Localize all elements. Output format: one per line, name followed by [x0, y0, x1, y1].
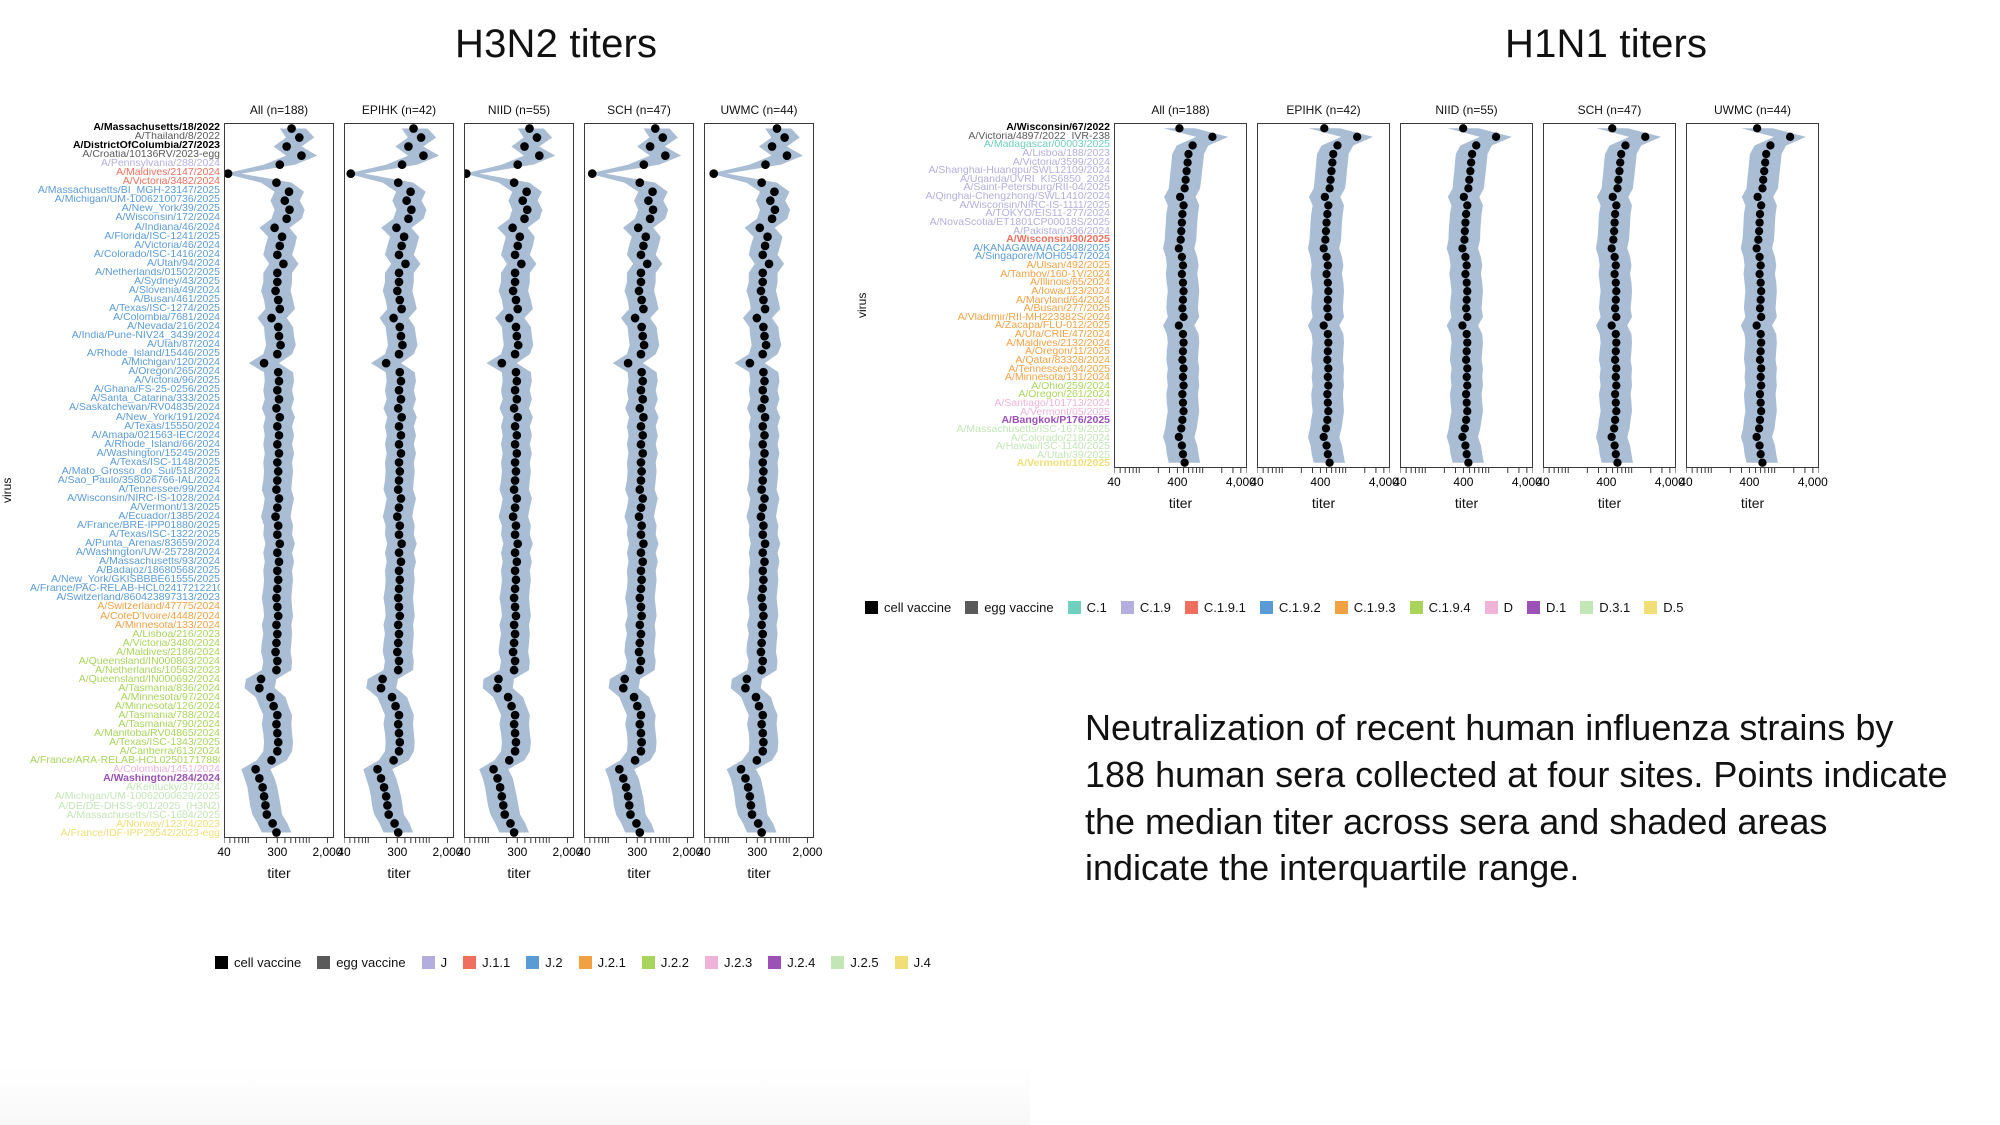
virus-label: A/Texas/ISC-1343/2025 [30, 738, 220, 747]
median-point [758, 440, 767, 449]
median-point [637, 566, 646, 575]
median-point [273, 386, 282, 395]
legend-item[interactable]: cell vaccine [215, 955, 301, 970]
median-point [758, 657, 767, 666]
legend-item[interactable]: C.1.9.2 [1260, 600, 1321, 615]
median-point [382, 792, 391, 801]
x-axis-title: titer [344, 865, 454, 881]
virus-label: A/Wisconsin/NIRC-IS-1028/2024 [30, 494, 220, 503]
virus-label: A/Minnesota/131/2024 [865, 373, 1110, 382]
legend-item[interactable]: J.1.1 [463, 955, 510, 970]
virus-label: A/Nevada/216/2024 [30, 322, 220, 331]
legend-swatch [831, 956, 844, 969]
median-point [1465, 176, 1473, 184]
median-point [274, 575, 283, 584]
x-tick-label: 300 [267, 845, 287, 859]
median-point [758, 711, 767, 720]
median-point [757, 639, 766, 648]
median-point [510, 621, 519, 630]
median-point [1462, 210, 1470, 218]
median-point [637, 584, 646, 593]
median-point [625, 801, 634, 810]
x-tick-label: 40 [577, 845, 590, 859]
median-point [512, 467, 521, 476]
legend-swatch [215, 956, 228, 969]
median-point [1463, 407, 1471, 415]
legend-item[interactable]: D [1485, 600, 1513, 615]
median-point [637, 467, 646, 476]
legend-item[interactable]: cell vaccine [865, 600, 951, 615]
median-point [637, 268, 646, 277]
median-point [639, 413, 648, 422]
x-tick-label-row: 404004,000 [1543, 475, 1676, 491]
x-tick-label-row: 403002,000 [584, 845, 694, 861]
legend-item[interactable]: J.2.1 [579, 955, 626, 970]
x-tick-label: 300 [507, 845, 527, 859]
virus-label: A/Ulsan/492/2025 [865, 261, 1110, 270]
median-point [1177, 227, 1185, 235]
virus-label: A/Oregon/11/2025 [865, 347, 1110, 356]
median-point [520, 142, 529, 151]
median-point [763, 232, 772, 241]
median-point [390, 819, 399, 828]
virus-label: A/Croatia/10136RV/2023-egg [30, 150, 220, 159]
median-point [280, 196, 289, 205]
titer-ribbon-plot [345, 124, 453, 837]
legend-label: egg vaccine [336, 955, 405, 970]
median-point [1323, 304, 1331, 312]
legend-label: C.1.9.1 [1204, 600, 1246, 615]
median-point [1461, 270, 1469, 278]
median-point [225, 169, 232, 178]
virus-label: A/Tennessee/99/2024 [30, 485, 220, 494]
x-tick-label: 300 [747, 845, 767, 859]
virus-label: A/New_York/GKISBBBE61555/2025 [30, 575, 220, 584]
median-point [397, 241, 406, 250]
median-point [275, 494, 284, 503]
median-point [395, 422, 404, 431]
h1n1-figure: virusA/Wisconsin/67/2022A/Victoria/4897/… [855, 95, 2000, 695]
median-point [383, 801, 392, 810]
median-point [637, 503, 646, 512]
median-point [267, 756, 276, 765]
median-point [1324, 338, 1332, 346]
median-point [397, 449, 406, 458]
legend-item[interactable]: C.1 [1068, 600, 1107, 615]
legend-swatch [579, 956, 592, 969]
virus-label: A/Ohio/259/2024 [865, 382, 1110, 391]
median-point [275, 395, 284, 404]
legend-item[interactable]: J.2.3 [705, 955, 752, 970]
x-axis-title: titer [1114, 495, 1247, 511]
virus-label: A/Vermont/10/2025 [865, 459, 1110, 468]
median-point [1322, 218, 1330, 226]
plot-area [584, 123, 694, 838]
median-point [1178, 390, 1186, 398]
median-point [395, 323, 404, 332]
median-point [1758, 184, 1766, 192]
median-point [1178, 441, 1186, 449]
median-point [272, 666, 281, 675]
virus-label: A/Qatar/83328/2024 [865, 356, 1110, 365]
median-point [758, 729, 767, 738]
x-tick-label: 2,000 [792, 845, 822, 859]
legend-label: cell vaccine [884, 600, 951, 615]
median-point [1755, 227, 1763, 235]
median-point [395, 729, 404, 738]
legend-item[interactable]: egg vaccine [965, 600, 1053, 615]
median-point [1617, 150, 1625, 158]
legend-label: J.4 [914, 955, 931, 970]
median-point [1609, 236, 1617, 244]
virus-label: A/Tasmania/788/2024 [30, 711, 220, 720]
median-point [639, 305, 648, 314]
legend-label: C.1.9.3 [1354, 600, 1396, 615]
median-point [494, 675, 503, 684]
median-point [635, 666, 644, 675]
panel-title: NIID (n=55) [1400, 103, 1533, 117]
virus-label: A/Victoria/3599/2024 [865, 158, 1110, 167]
median-point [512, 296, 521, 305]
median-point [1755, 424, 1763, 432]
median-point [624, 359, 633, 368]
median-point [511, 476, 520, 485]
median-point [271, 287, 280, 296]
iqr-ribbon [1308, 128, 1373, 462]
median-point [1458, 433, 1466, 441]
median-point [759, 296, 768, 305]
median-point [644, 196, 653, 205]
legend-item[interactable]: C.1.9.4 [1410, 600, 1471, 615]
legend-item[interactable]: D.3.1 [1580, 600, 1630, 615]
median-point [510, 485, 519, 494]
median-point [758, 386, 767, 395]
legend-swatch [1335, 601, 1348, 614]
median-point [757, 593, 766, 602]
legend-item[interactable]: J [422, 955, 448, 970]
median-point [1610, 227, 1618, 235]
median-point [395, 440, 404, 449]
median-point [1615, 167, 1623, 175]
median-point [1616, 158, 1624, 166]
x-tick-label: 400 [1739, 475, 1759, 489]
legend-swatch [642, 956, 655, 969]
legend-item[interactable]: C.1.9 [1121, 600, 1171, 615]
median-point [511, 566, 520, 575]
virus-label: A/Massachusetts/18/2022 [30, 123, 220, 132]
median-point [272, 621, 281, 630]
median-point [406, 187, 415, 196]
median-point [1612, 338, 1620, 346]
median-point [378, 675, 387, 684]
titer-ribbon-plot [1401, 124, 1532, 467]
x-tick-label-row: 404004,000 [1400, 475, 1533, 491]
median-point [1179, 201, 1187, 209]
median-point [1178, 356, 1186, 364]
median-point [1460, 236, 1468, 244]
median-point [759, 467, 768, 476]
median-point [1459, 124, 1467, 132]
virus-label: A/Pennsylvania/288/2024 [30, 159, 220, 168]
median-point [635, 639, 644, 648]
virus-label: A/Utah/87/2024 [30, 340, 220, 349]
median-point [747, 801, 756, 810]
median-point [758, 503, 767, 512]
median-point [398, 160, 407, 169]
median-point [635, 621, 644, 630]
median-point [1322, 253, 1330, 261]
legend-swatch [1260, 601, 1273, 614]
median-point [1461, 253, 1469, 261]
virus-label: A/Vermont/05/2025 [865, 408, 1110, 417]
median-point [770, 187, 779, 196]
median-point [267, 314, 276, 323]
median-point [646, 142, 655, 151]
x-tick-label-row: 403002,000 [704, 845, 814, 861]
legend-label: D.1 [1546, 600, 1566, 615]
median-point [511, 584, 520, 593]
median-point [1175, 321, 1183, 329]
median-point [511, 711, 520, 720]
median-point [395, 711, 404, 720]
x-tick-label: 40 [697, 845, 710, 859]
legend-item[interactable]: J.2.4 [768, 955, 815, 970]
iqr-ribbon [225, 128, 317, 832]
median-point [297, 151, 306, 160]
median-point [1322, 441, 1330, 449]
median-point [755, 223, 764, 232]
iqr-ribbon [1596, 128, 1661, 462]
median-point [511, 548, 520, 557]
median-point [640, 341, 649, 350]
median-point [626, 810, 635, 819]
median-point [1753, 244, 1761, 252]
legend-item[interactable]: J.2 [526, 955, 562, 970]
virus-label: A/Santiago/101713/2024 [865, 399, 1110, 408]
virus-label: A/Tambov/160-1V/2024 [865, 270, 1110, 279]
x-tick-label: 400 [1453, 475, 1473, 489]
virus-label: A/Washington/284/2024 [30, 774, 220, 783]
virus-label: A/Colorado/ISC-1416/2024 [30, 250, 220, 259]
legend-item[interactable]: egg vaccine [317, 955, 405, 970]
median-point [1612, 347, 1620, 355]
median-point [273, 268, 282, 277]
median-point [1621, 141, 1629, 149]
median-point [1179, 407, 1187, 415]
median-point [1463, 347, 1471, 355]
median-point [744, 783, 753, 792]
virus-label: A/Netherlands/10563/2023 [30, 666, 220, 675]
median-point [637, 602, 646, 611]
x-tick-label: 400 [1596, 475, 1616, 489]
median-point [512, 738, 521, 747]
median-point [1463, 381, 1471, 389]
median-point [397, 305, 406, 314]
median-point [1753, 124, 1761, 132]
median-point [1755, 441, 1763, 449]
median-point [1613, 459, 1621, 467]
median-point [637, 575, 646, 584]
plot-area [224, 123, 334, 838]
virus-label: A/France/PAC-RELAB-HCL024172122101/2024 [30, 584, 220, 593]
median-point [522, 187, 531, 196]
virus-label: A/Norway/12374/2023 [30, 820, 220, 829]
median-point [510, 178, 519, 187]
legend-item[interactable]: D.5 [1644, 600, 1683, 615]
median-point [637, 548, 646, 557]
median-point [510, 666, 519, 675]
median-point [397, 431, 406, 440]
x-axis-title: titer [464, 865, 574, 881]
median-point [389, 756, 398, 765]
median-point [1183, 158, 1191, 166]
median-point [499, 801, 508, 810]
legend-item[interactable]: C.1.9.3 [1335, 600, 1396, 615]
legend-item[interactable]: C.1.9.1 [1185, 600, 1246, 615]
median-point [257, 675, 266, 684]
median-point [620, 675, 629, 684]
median-point [1610, 441, 1618, 449]
median-point [661, 151, 670, 160]
median-point [773, 124, 782, 133]
median-point [273, 458, 282, 467]
median-point [512, 612, 521, 621]
virus-label: A/Vermont/13/2025 [30, 503, 220, 512]
median-point [635, 287, 644, 296]
median-point [1462, 356, 1470, 364]
median-point [757, 512, 766, 521]
median-point [633, 702, 642, 711]
median-point [1175, 124, 1183, 132]
virus-label: A/Thailand/8/2022 [30, 132, 220, 141]
virus-label: A/Netherlands/01502/2025 [30, 268, 220, 277]
virus-label: A/Victoria/96/2025 [30, 376, 220, 385]
median-point [400, 232, 409, 241]
median-point [273, 584, 282, 593]
median-point [638, 431, 647, 440]
median-point [275, 449, 284, 458]
panel-title: UWMC (n=44) [704, 103, 814, 117]
legend-label: D.3.1 [1599, 600, 1630, 615]
median-point [404, 142, 413, 151]
median-point [273, 440, 282, 449]
median-point [260, 792, 269, 801]
iqr-ribbon [1163, 128, 1228, 462]
median-point [641, 232, 650, 241]
median-point [624, 792, 633, 801]
median-point [395, 738, 404, 747]
median-point [1462, 390, 1470, 398]
median-point [635, 404, 644, 413]
median-point [1612, 330, 1620, 338]
median-point [631, 756, 640, 765]
median-point [1321, 236, 1329, 244]
median-point [511, 440, 520, 449]
median-point [512, 521, 521, 530]
median-point [755, 702, 764, 711]
median-point [637, 630, 646, 639]
median-point [273, 503, 282, 512]
median-point [1757, 296, 1765, 304]
plot-area [1543, 123, 1676, 468]
legend-item[interactable]: J.4 [895, 955, 931, 970]
median-point [1760, 167, 1768, 175]
median-point [635, 593, 644, 602]
median-point [1324, 407, 1332, 415]
median-point [1324, 296, 1332, 304]
median-point [377, 684, 386, 693]
legend-item[interactable]: J.2.5 [831, 955, 878, 970]
x-tick-label: 40 [217, 845, 230, 859]
median-point [273, 566, 282, 575]
median-point [395, 476, 404, 485]
median-point [1181, 176, 1189, 184]
median-point [394, 828, 403, 837]
legend-label: J.2.3 [724, 955, 752, 970]
virus-label: A/Ufa/CRIE/47/2024 [865, 330, 1110, 339]
median-point [637, 250, 646, 259]
median-point [1757, 450, 1765, 458]
median-point [758, 422, 767, 431]
virus-label: A/Victoria/3480/2024 [30, 639, 220, 648]
median-point [759, 575, 768, 584]
median-point [274, 323, 283, 332]
median-point [759, 738, 768, 747]
virus-label: A/Shanghai-Huangpu/SWL12109/2024 [865, 166, 1110, 175]
iqr-ribbon [589, 128, 681, 832]
median-point [274, 296, 283, 305]
median-point [766, 196, 775, 205]
plot-area [1686, 123, 1819, 468]
median-point [497, 792, 506, 801]
virus-label: A/Tasmania/836/2024 [30, 684, 220, 693]
median-point [1608, 321, 1616, 329]
median-point [1179, 330, 1187, 338]
legend-item[interactable]: D.1 [1527, 600, 1566, 615]
median-point [1461, 218, 1469, 226]
median-point [761, 413, 770, 422]
legend-label: D.5 [1663, 600, 1683, 615]
median-point [395, 268, 404, 277]
virus-label: A/Queensland/IN000692/2024 [30, 675, 220, 684]
median-point [407, 205, 416, 214]
median-point [395, 657, 404, 666]
median-point [635, 512, 644, 521]
median-point [637, 323, 646, 332]
virus-label: A/Illinois/65/2024 [865, 278, 1110, 287]
x-tick-label-row: 403002,000 [464, 845, 574, 861]
median-point [1178, 218, 1186, 226]
median-point [397, 413, 406, 422]
median-point [634, 223, 643, 232]
median-point [515, 232, 524, 241]
legend-item[interactable]: J.2.2 [642, 955, 689, 970]
virus-label: A/India/Pune-NIV24_3439/2024 [30, 331, 220, 340]
median-point [1612, 261, 1620, 269]
median-point [511, 657, 520, 666]
median-point [273, 350, 282, 359]
median-point [493, 774, 502, 783]
median-point [646, 214, 655, 223]
virus-label: A/DistrictOfColumbia/27/2023 [30, 141, 220, 150]
median-point [635, 178, 644, 187]
median-point [272, 178, 281, 187]
median-point [282, 142, 291, 151]
median-point [1611, 390, 1619, 398]
median-point [1612, 381, 1620, 389]
median-point [395, 368, 404, 377]
median-point [272, 828, 281, 837]
